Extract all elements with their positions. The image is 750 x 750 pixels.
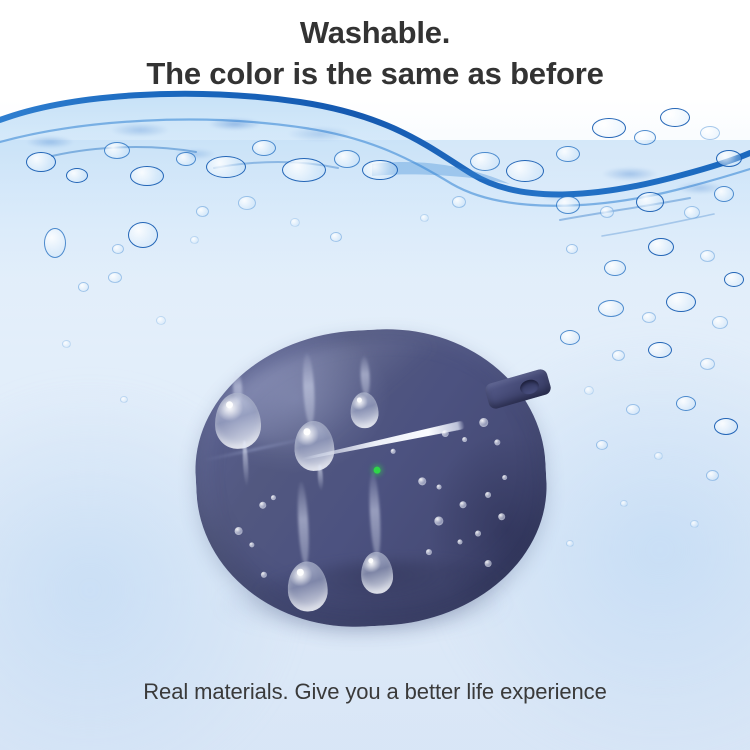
bubble bbox=[596, 440, 608, 450]
bubble bbox=[648, 342, 672, 358]
bubble bbox=[592, 118, 626, 138]
bubble bbox=[330, 232, 342, 242]
water-bead bbox=[459, 501, 466, 508]
bubble bbox=[684, 206, 700, 219]
bubble bbox=[676, 396, 696, 411]
headline-line-1: Washable. bbox=[0, 12, 750, 53]
bubble bbox=[112, 244, 124, 254]
bubble bbox=[642, 312, 656, 323]
bubble bbox=[690, 520, 699, 528]
bubble bbox=[566, 540, 574, 547]
bubble bbox=[44, 228, 66, 258]
water-bead bbox=[479, 418, 488, 427]
bubble bbox=[584, 386, 594, 395]
bubble bbox=[706, 470, 719, 481]
droplet-trail bbox=[296, 481, 310, 565]
bubble bbox=[604, 260, 626, 276]
bubble bbox=[716, 150, 742, 167]
water-bead bbox=[498, 513, 505, 520]
water-bead bbox=[426, 549, 432, 555]
bubble bbox=[598, 300, 624, 317]
water-bead bbox=[434, 516, 443, 525]
bubble bbox=[714, 186, 734, 202]
bubble bbox=[470, 152, 500, 171]
bubble bbox=[62, 340, 71, 348]
water-bead bbox=[261, 572, 267, 578]
water-bead bbox=[494, 439, 500, 445]
water-bead bbox=[259, 502, 266, 509]
bubble bbox=[506, 160, 544, 182]
bubble bbox=[666, 292, 696, 312]
bubble bbox=[104, 142, 130, 159]
headline-line-2: The color is the same as before bbox=[0, 53, 750, 94]
bubble bbox=[108, 272, 122, 283]
earbuds-case bbox=[186, 322, 558, 634]
bubble bbox=[566, 244, 578, 254]
bubble bbox=[612, 350, 625, 361]
water-bead bbox=[462, 437, 467, 442]
bubble bbox=[712, 316, 728, 329]
bubble bbox=[660, 108, 690, 127]
water-bead bbox=[484, 560, 491, 567]
bubble bbox=[120, 396, 128, 403]
bubble bbox=[26, 152, 56, 172]
bubble bbox=[700, 250, 715, 262]
led-indicator bbox=[373, 466, 380, 473]
bubble bbox=[714, 418, 738, 435]
caption: Real materials. Give you a better life e… bbox=[0, 679, 750, 705]
bubble bbox=[654, 452, 663, 460]
headline: Washable. The color is the same as befor… bbox=[0, 12, 750, 94]
bubble bbox=[66, 168, 88, 183]
bubble bbox=[176, 152, 196, 166]
water-bead bbox=[457, 539, 462, 544]
water-bead bbox=[249, 542, 254, 547]
water-bead bbox=[502, 475, 507, 480]
water-bead bbox=[271, 495, 276, 500]
bubble bbox=[556, 146, 580, 162]
bubble bbox=[556, 196, 580, 214]
droplet bbox=[360, 551, 394, 595]
bubble bbox=[362, 160, 398, 180]
bubble bbox=[130, 166, 164, 186]
bubble bbox=[128, 222, 158, 248]
bubble bbox=[78, 282, 89, 292]
product-banner: Washable. The color is the same as befor… bbox=[0, 0, 750, 750]
bubble bbox=[700, 358, 715, 370]
bubble bbox=[700, 126, 720, 140]
water-bead bbox=[418, 477, 426, 485]
bubble bbox=[600, 206, 614, 218]
bubble bbox=[334, 150, 360, 168]
water-bead bbox=[485, 492, 491, 498]
bubble bbox=[634, 130, 656, 145]
droplet-trail bbox=[368, 472, 382, 558]
water-bead bbox=[475, 530, 481, 536]
droplet-streak bbox=[242, 440, 249, 486]
water-bead bbox=[436, 484, 441, 489]
bubble bbox=[636, 192, 664, 212]
water-bead bbox=[442, 430, 449, 437]
water-bead bbox=[391, 449, 396, 454]
water-bead bbox=[234, 527, 242, 535]
bubble bbox=[560, 330, 580, 345]
bubble bbox=[648, 238, 674, 256]
bubble bbox=[238, 196, 256, 210]
bubble bbox=[190, 236, 199, 244]
bubble bbox=[252, 140, 276, 156]
case-sheen bbox=[215, 322, 479, 464]
bubble bbox=[206, 156, 246, 178]
bubble bbox=[620, 500, 628, 507]
bubble bbox=[420, 214, 429, 222]
bubble bbox=[452, 196, 466, 208]
bubble bbox=[626, 404, 640, 415]
bubble bbox=[282, 158, 326, 182]
bubble bbox=[724, 272, 744, 287]
bubble bbox=[156, 316, 166, 325]
bubble bbox=[196, 206, 209, 217]
bubble bbox=[290, 218, 300, 227]
